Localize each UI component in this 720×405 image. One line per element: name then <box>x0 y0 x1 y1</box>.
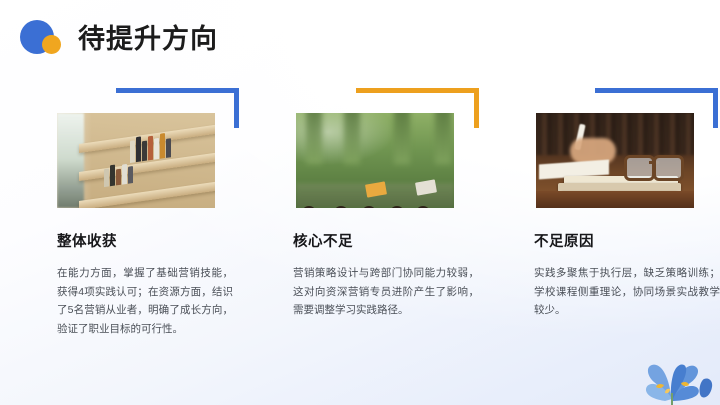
students-photo <box>296 113 454 208</box>
bookshelf-photo <box>57 113 215 208</box>
card-body-2: 营销策略设计与跨部门协同能力较弱，这对向资深营销专员进阶产生了影响，需要调整学习… <box>293 264 479 320</box>
card-1 <box>57 88 241 208</box>
card-body-1: 在能力方面，掌握了基础营销技能，获得4项实践认可；在资源方面，结识了5名营销从业… <box>57 264 233 339</box>
logo-mark <box>18 16 70 62</box>
glasses-icon <box>624 155 684 177</box>
page-title: 待提升方向 <box>78 26 218 53</box>
card-title-2: 核心不足 <box>293 230 479 251</box>
card-title-1: 整体收获 <box>57 230 238 251</box>
cards-row <box>0 88 720 208</box>
card-title-3: 不足原因 <box>534 230 720 251</box>
blue-iris-illustration-icon <box>624 339 720 405</box>
text-block-1: 整体收获 在能力方面，掌握了基础营销技能，获得4项实践认可；在资源方面，结识了5… <box>57 230 238 339</box>
logo-orange-circle-icon <box>42 35 61 54</box>
glasses-books-photo <box>536 113 694 208</box>
card-body-3: 实践多聚焦于执行层，缺乏策略训练；学校课程侧重理论，协同场景实战教学较少。 <box>534 264 720 320</box>
text-row: 整体收获 在能力方面，掌握了基础营销技能，获得4项实践认可；在资源方面，结识了5… <box>0 230 720 339</box>
slide-root: 待提升方向 <box>0 0 720 405</box>
text-block-3: 不足原因 实践多聚焦于执行层，缺乏策略训练；学校课程侧重理论，协同场景实战教学较… <box>534 230 720 339</box>
card-3 <box>536 88 720 208</box>
text-block-2: 核心不足 营销策略设计与跨部门协同能力较弱，这对向资深营销专员进阶产生了影响，需… <box>293 230 479 339</box>
card-2 <box>296 88 480 208</box>
slide-header: 待提升方向 <box>0 0 218 78</box>
